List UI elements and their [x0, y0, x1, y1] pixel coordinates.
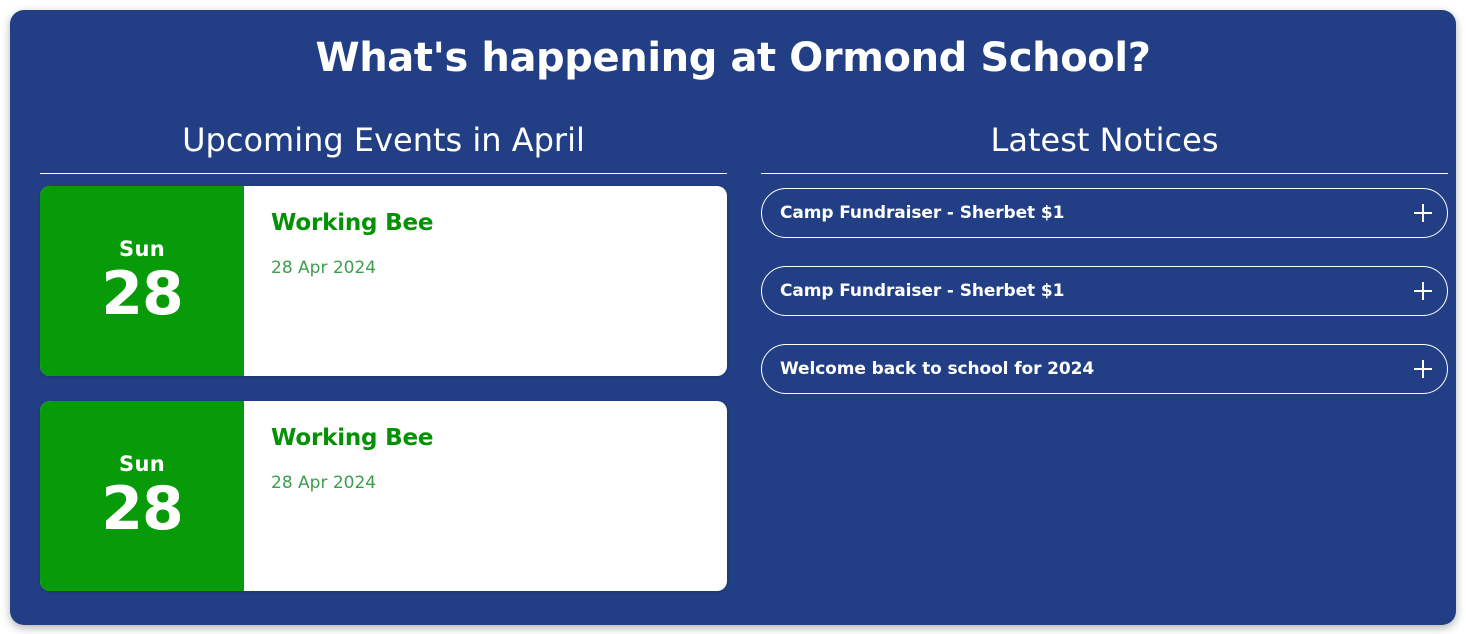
event-day-number: 28 [101, 264, 183, 324]
notices-heading-divider [761, 173, 1448, 174]
notice-item[interactable]: Welcome back to school for 2024 [761, 344, 1448, 394]
event-date-text: 28 Apr 2024 [271, 258, 727, 278]
notice-title: Camp Fundraiser - Sherbet $1 [762, 281, 1114, 301]
plus-icon[interactable] [1413, 203, 1433, 223]
page-title: What's happening at Ormond School? [10, 34, 1456, 82]
event-day-of-week: Sun [119, 239, 165, 260]
event-day-number: 28 [101, 479, 183, 539]
event-title[interactable]: Working Bee [271, 210, 727, 238]
event-details: Working Bee 28 Apr 2024 [244, 401, 727, 591]
event-date-block: Sun 28 [40, 186, 244, 376]
notices-list: Camp Fundraiser - Sherbet $1 Camp Fundra… [761, 188, 1448, 394]
event-title[interactable]: Working Bee [271, 425, 727, 453]
upcoming-events-column: Upcoming Events in April Sun 28 Working … [30, 120, 737, 616]
event-card[interactable]: Sun 28 Working Bee 28 Apr 2024 [40, 186, 727, 376]
latest-notices-column: Latest Notices Camp Fundraiser - Sherbet… [751, 120, 1456, 422]
event-day-of-week: Sun [119, 454, 165, 475]
event-date-block: Sun 28 [40, 401, 244, 591]
event-card[interactable]: Sun 28 Working Bee 28 Apr 2024 [40, 401, 727, 591]
event-details: Working Bee 28 Apr 2024 [244, 186, 727, 376]
notices-section-heading: Latest Notices [751, 120, 1456, 160]
events-list: Sun 28 Working Bee 28 Apr 2024 Sun 28 Wo… [40, 186, 727, 591]
school-dashboard-panel: What's happening at Ormond School? Upcom… [10, 10, 1456, 625]
events-section-heading: Upcoming Events in April [30, 120, 737, 160]
notice-item[interactable]: Camp Fundraiser - Sherbet $1 [761, 188, 1448, 238]
notice-item[interactable]: Camp Fundraiser - Sherbet $1 [761, 266, 1448, 316]
notice-title: Camp Fundraiser - Sherbet $1 [762, 203, 1114, 223]
event-date-text: 28 Apr 2024 [271, 473, 727, 493]
events-heading-divider [40, 173, 727, 174]
plus-icon[interactable] [1413, 359, 1433, 379]
plus-icon[interactable] [1413, 281, 1433, 301]
notice-title: Welcome back to school for 2024 [762, 359, 1144, 379]
